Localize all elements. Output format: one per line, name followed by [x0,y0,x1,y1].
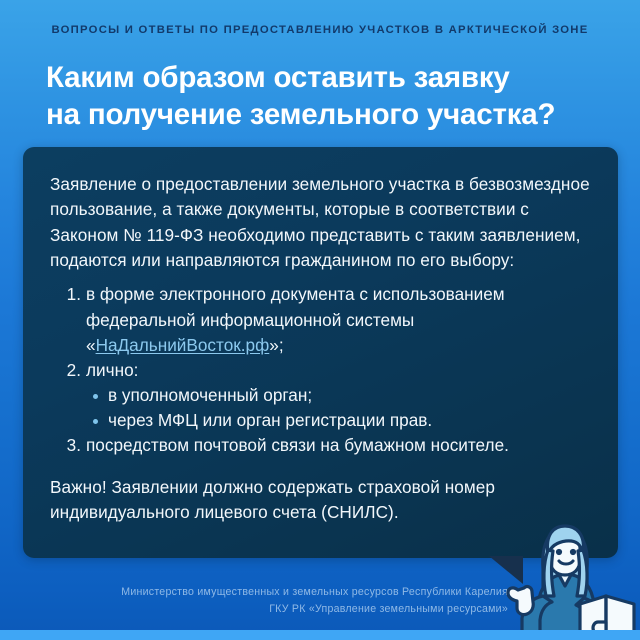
woman-with-book-illustration [496,524,640,640]
bullet-dot-icon [93,394,98,399]
footer-credits: Министерство имущественных и земельных р… [0,584,508,619]
answer-card: Заявление о предоставлении земельного уч… [23,147,618,558]
infographic-poster: ВОПРОСЫ И ОТВЕТЫ ПО ПРЕДОСТАВЛЕНИЮ УЧАСТ… [0,0,640,640]
page-title-line-1: Каким образом оставить заявку [46,60,616,97]
answer-card-content: Заявление о предоставлении земельного уч… [23,147,618,525]
page-title-line-2: на получение земельного участка? [46,97,616,134]
step-3-text: посредством почтовой связи на бумажном н… [86,435,509,455]
step-1-text-after-link: »; [269,335,283,355]
hair-right [577,550,587,596]
step-item-1: в форме электронного документа с использ… [84,282,590,357]
nadalnivostok-link[interactable]: НаДальнийВосток.рф [96,335,270,355]
kicker-text: ВОПРОСЫ И ОТВЕТЫ ПО ПРЕДОСТАВЛЕНИЮ УЧАСТ… [0,24,640,38]
steps-list: в форме электронного документа с использ… [50,282,590,458]
important-note: Важно! Заявлении должно содержать страхо… [50,475,590,525]
right-eye [570,549,576,555]
footer-line-2: ГКУ РК «Управление земельными ресурсами» [0,601,508,618]
step-item-3: посредством почтовой связи на бумажном н… [84,433,590,458]
footer-line-1: Министерство имущественных и земельных р… [0,584,508,601]
bullet-dot-icon [93,419,98,424]
step-2-text: лично: [86,360,138,380]
bottom-accent-strip [0,630,640,640]
left-eye [556,549,562,555]
sub-item-2-text: через МФЦ или орган регистрации прав. [108,410,432,430]
left-hand [508,587,533,615]
sub-item-1: в уполномоченный орган; [106,383,590,408]
page-title: Каким образом оставить заявку на получен… [46,60,616,133]
step-2-sublist: в уполномоченный орган; через МФЦ или ор… [86,383,590,433]
sub-item-1-text: в уполномоченный орган; [108,385,312,405]
step-item-2: лично: в уполномоченный орган; через МФЦ… [84,358,590,433]
sub-item-2: через МФЦ или орган регистрации прав. [106,408,590,433]
hair-left [544,550,554,596]
intro-paragraph: Заявление о предоставлении земельного уч… [50,172,590,273]
